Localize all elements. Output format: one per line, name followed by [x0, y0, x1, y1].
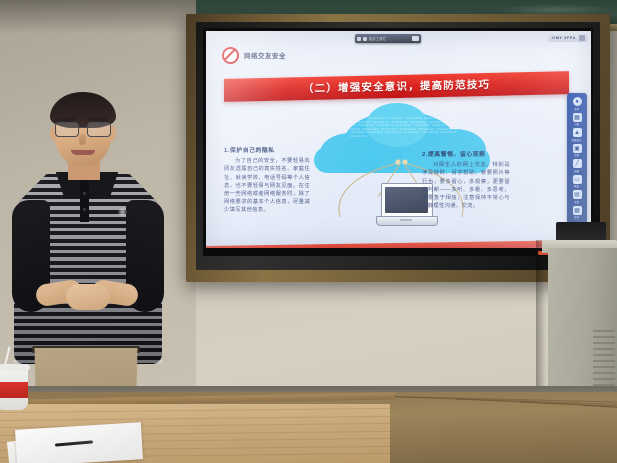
grid-icon: ▦: [573, 113, 582, 122]
presenter-mouth: [71, 150, 95, 155]
annotation-mini-toolbar[interactable]: 批注工具栏: [355, 34, 421, 43]
close-tool-icon[interactable]: [412, 36, 419, 41]
presenter-hands: [66, 284, 110, 310]
toolbar-item-eraser[interactable]: ▭ 橡皮: [569, 175, 586, 189]
window-chip-label: JIMY 3FPA: [551, 36, 576, 40]
upload-icon: ▲: [573, 128, 582, 137]
select-tool-icon[interactable]: [363, 37, 367, 41]
user-icon: ●: [573, 97, 582, 106]
toolbar-label-3: 投屏: [574, 153, 579, 157]
toolbar-item-screen-annotate[interactable]: ▲ 屏幕批注: [569, 128, 586, 142]
toolbar-item-courseware[interactable]: ● 课件: [569, 97, 586, 111]
slide-header: 网络交友安全: [222, 47, 286, 64]
presenter-placket: [80, 180, 89, 222]
slide-column-right: 2.提高警惕，留心观察 对陌生人的网上交友，特别是涉及钱财、请求帮助、索要照片等…: [422, 151, 510, 210]
prohibition-icon: [222, 47, 239, 64]
toolbar-item-pen[interactable]: ╱ 画笔: [569, 159, 586, 173]
drink-cup-band: [0, 382, 28, 398]
toolbar-label-4: 画笔: [574, 169, 579, 173]
eraser-icon: ▭: [573, 175, 582, 184]
slide-footer-bar: [206, 240, 591, 248]
classroom-photo: 批注工具栏 JIMY 3FPA 网络交友安全 （二）增强安全意识，提高防范技巧 …: [0, 0, 617, 463]
toolbar-label-7: 更多: [574, 215, 579, 219]
toolbar-label-2: 屏幕批注: [572, 138, 582, 142]
pen-tool-icon[interactable]: [357, 37, 361, 41]
slide-column-left: 1.保护自己的隐私 为了自己的安全，不要轻易向网友透露自己的真实姓名、家庭住址、…: [224, 147, 310, 215]
slide-column-left-body: 为了自己的安全，不要轻易向网友透露自己的真实姓名、家庭住址、就读学校、电话号码等…: [224, 157, 310, 214]
interactive-display-screen[interactable]: 批注工具栏 JIMY 3FPA 网络交友安全 （二）增强安全意识，提高防范技巧 …: [206, 31, 591, 248]
slide-column-left-heading: 1.保护自己的隐私: [224, 147, 310, 155]
shirt-logo: [118, 208, 127, 218]
toolbar-label-5: 橡皮: [574, 184, 579, 188]
screen-icon: ▣: [573, 144, 582, 153]
window-square-icon[interactable]: [579, 35, 585, 41]
toolbar-label-0: 课件: [574, 107, 579, 111]
toolbar-label-6: 手势: [574, 200, 579, 204]
slide-column-right-body: 对陌生人的网上交友，特别是涉及钱财、请求帮助、索要照片等行为，要多留心，多观察，…: [422, 161, 510, 210]
apps-icon: ▦: [573, 206, 582, 215]
monitor-edge: [556, 222, 606, 242]
slide-column-right-heading: 2.提高警惕，留心观察: [422, 151, 510, 159]
slide-header-label: 网络交友安全: [244, 51, 286, 60]
hand-icon: ▤: [573, 190, 582, 199]
toolbar-item-gesture[interactable]: ▤ 手势: [569, 190, 586, 204]
presenter-nose: [79, 134, 86, 145]
window-title-chip[interactable]: JIMY 3FPA: [548, 33, 588, 42]
presenter: [14, 96, 162, 426]
mini-toolbar-label: 批注工具栏: [369, 36, 386, 41]
toolbar-item-whiteboard[interactable]: ▦ 白板: [569, 113, 586, 127]
slide-title-banner: （二）增强安全意识，提高防范技巧: [224, 71, 569, 102]
toolbar-item-more[interactable]: ▦ 更多: [569, 206, 586, 220]
toolbar-item-cast[interactable]: ▣ 投屏: [569, 144, 586, 158]
toolbar-label-1: 白板: [574, 122, 579, 126]
slide-title: （二）增强安全意识，提高防范技巧: [303, 77, 490, 96]
pen-icon: ╱: [573, 159, 582, 168]
